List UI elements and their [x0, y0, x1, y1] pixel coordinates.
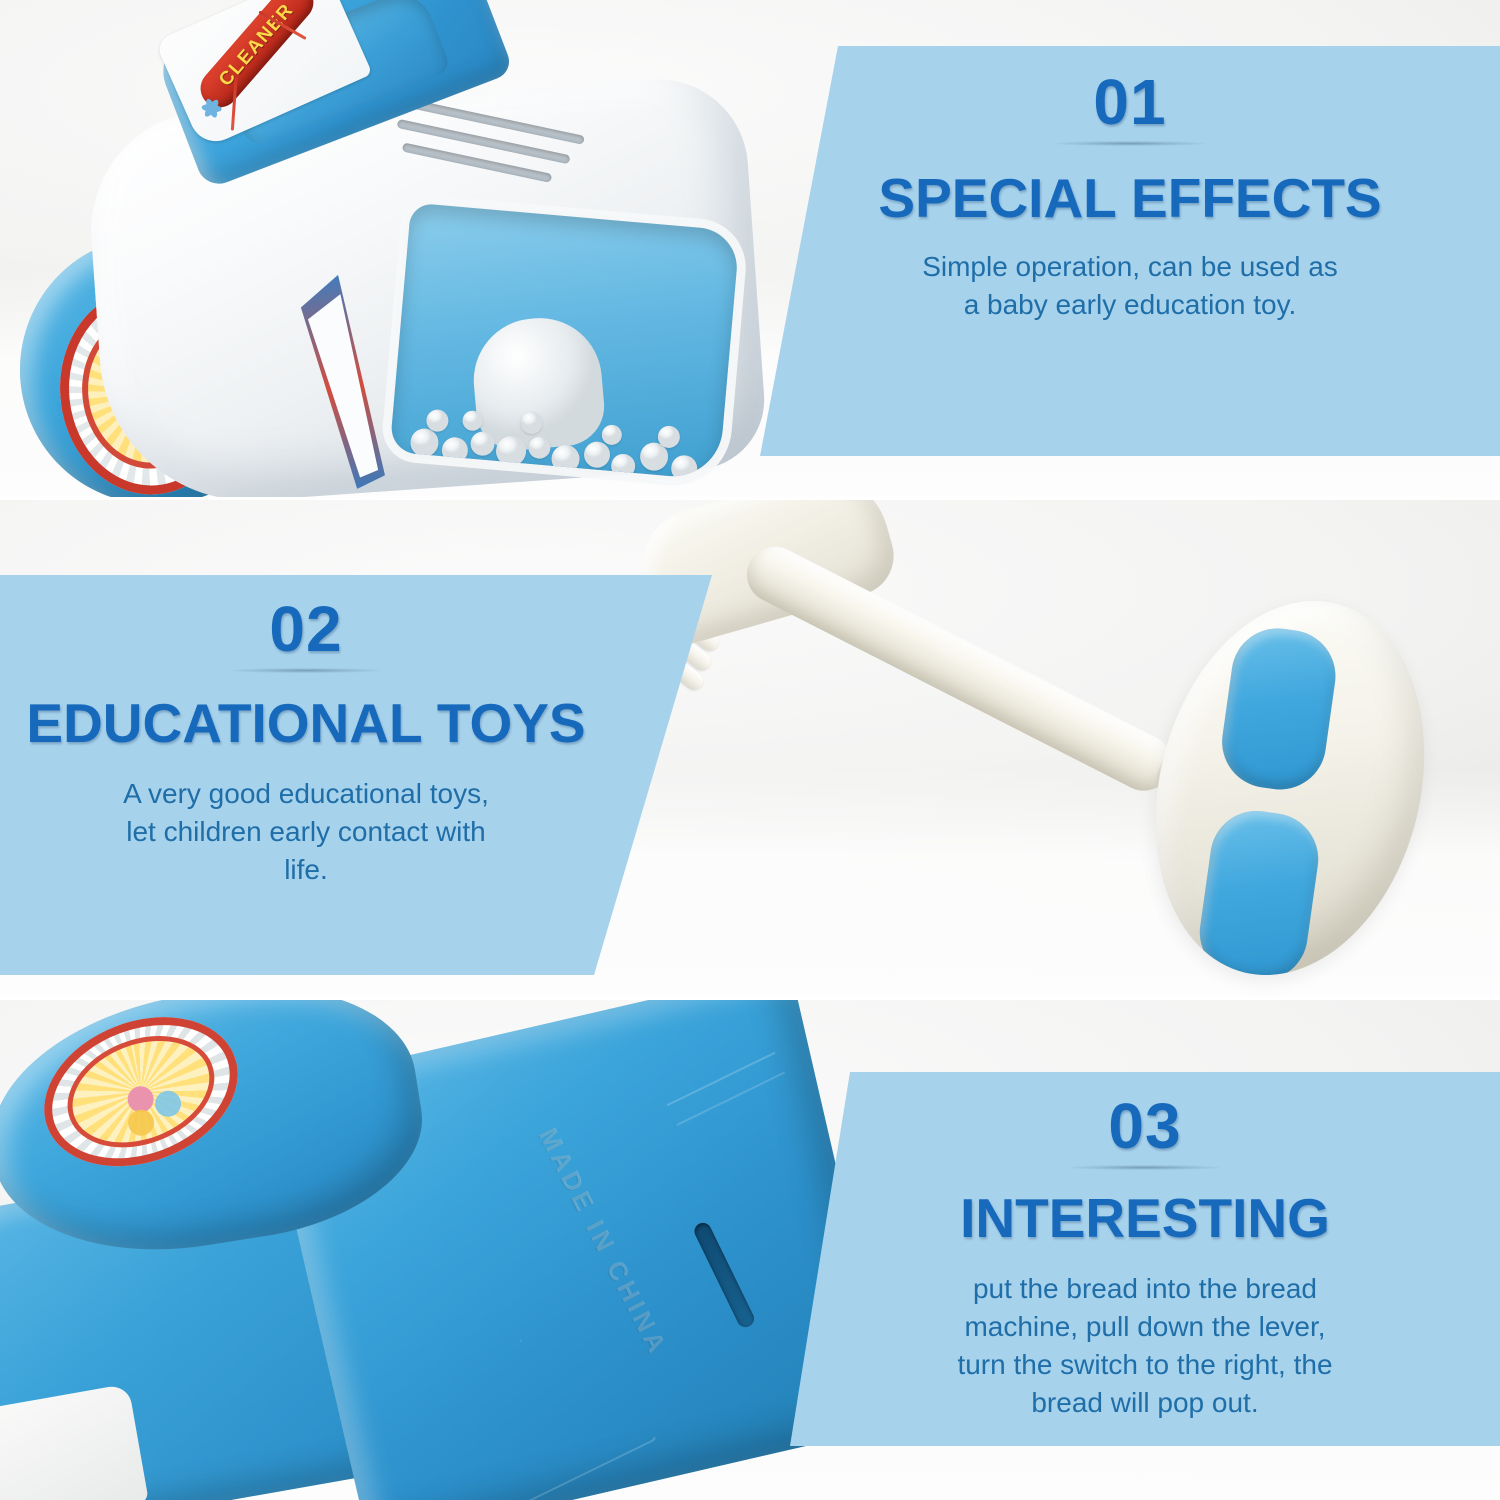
side-stripe-decal [295, 268, 385, 497]
floor-nozzle-head [1118, 572, 1462, 997]
emboss-symbol [448, 1304, 658, 1500]
panel-body-line: A very good educational toys, [123, 775, 489, 813]
nozzle-pad-bottom [1194, 805, 1324, 986]
panel-body-line: let children early contact with [123, 813, 489, 851]
feature-text-slab-1: 01 SPECIAL EFFECTS Simple operation, can… [760, 46, 1500, 456]
extension-wand [737, 537, 1181, 800]
made-in-china-emboss: MADE IN CHINA [532, 1123, 674, 1361]
panel-body-line: life. [123, 851, 489, 889]
panel-number: 01 [1093, 70, 1166, 134]
panel-body-line: Simple operation, can be used as [922, 248, 1338, 286]
number-underline [1055, 141, 1205, 146]
number-underline [1070, 1165, 1220, 1170]
infographic-sheet: CLEANER 01 [0, 0, 1500, 1500]
vent-slots [381, 96, 603, 216]
feature-text-slab-2: 02 EDUCATIONAL TOYS A very good educatio… [0, 575, 712, 975]
dust-window [390, 203, 741, 481]
feature-panel-2: 02 EDUCATIONAL TOYS A very good educatio… [0, 500, 1500, 997]
cleaner-badge-text: CLEANER [215, 0, 299, 91]
toy-vacuum-body-illustration: CLEANER [0, 0, 820, 497]
panel-body-line: a baby early education toy. [922, 286, 1338, 324]
panel-body-line: put the bread into the bread [957, 1270, 1332, 1308]
panel-number: 02 [269, 597, 342, 661]
panel-body-line: turn the switch to the right, the [957, 1346, 1332, 1384]
molding-mark [667, 1052, 785, 1126]
panel-number: 03 [1108, 1094, 1181, 1158]
wheel-decal [22, 1000, 259, 1193]
feature-text-slab-3: 03 INTERESTING put the bread into the br… [790, 1072, 1500, 1446]
panel-body-line: machine, pull down the lever, [957, 1308, 1332, 1346]
panel-heading: SPECIAL EFFECTS [878, 170, 1381, 228]
foam-beads [399, 379, 735, 481]
panel-heading: INTERESTING [960, 1190, 1330, 1248]
number-underline [231, 668, 381, 673]
toy-vacuum-hose-illustration [560, 500, 1500, 997]
feature-panel-3: MADE IN CHINA 03 [0, 1000, 1500, 1500]
battery-slot [692, 1220, 757, 1330]
panel-heading: EDUCATIONAL TOYS [26, 695, 585, 753]
wheel-sunburst [51, 1016, 230, 1168]
nozzle-pad-top [1216, 622, 1341, 795]
panel-body-line: bread will pop out. [957, 1384, 1332, 1422]
feature-panel-1: CLEANER 01 [0, 0, 1500, 497]
